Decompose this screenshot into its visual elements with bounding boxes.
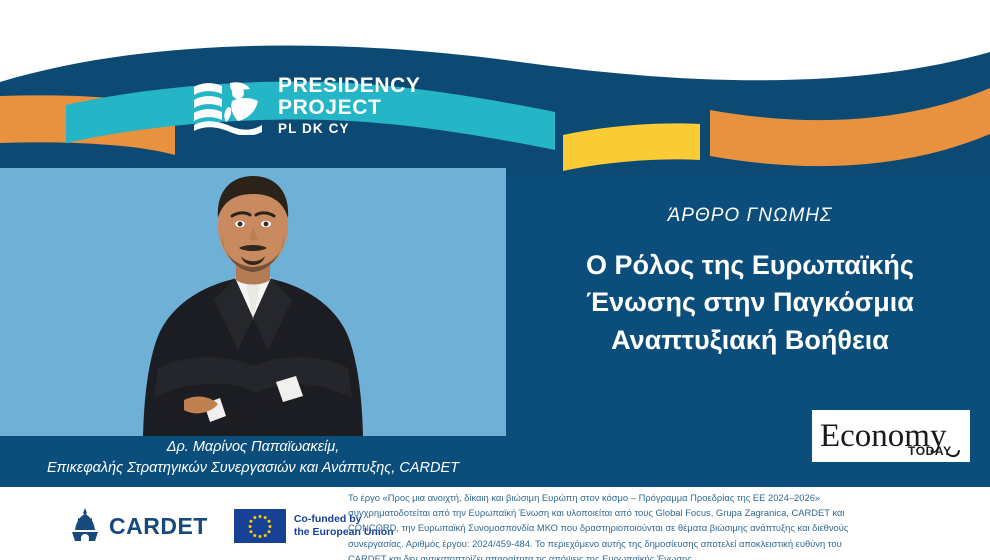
logo-line-presidency: PRESIDENCY (278, 75, 421, 97)
logo-line-countries: PL DK CY (278, 121, 421, 136)
headline-line-3: Αναπτυξιακή Βοήθεια (520, 322, 980, 359)
author-caption-line-2: Επικεφαλής Στρατηγικών Συνεργασιών και Α… (0, 458, 506, 479)
economy-today-badge: Economy TODAY (812, 410, 970, 462)
eu-flag-icon (234, 509, 286, 543)
presidency-project-logo: PRESIDENCY PROJECT PL DK CY (192, 75, 421, 136)
funding-disclaimer: Το έργο «Προς μια ανοιχτή, δίκαιη και βι… (348, 490, 982, 560)
author-caption-line-1: Δρ. Μαρίνος Παπαϊωακείμ, (0, 437, 506, 458)
cardet-windmill-icon (68, 508, 102, 544)
logo-line-project: PROJECT (278, 97, 421, 119)
disclaimer-line-1: Το έργο «Προς μια ανοιχτή, δίκαιη και βι… (348, 490, 982, 505)
author-portrait-photo (0, 168, 506, 436)
disclaimer-line-3: CONCORD, την Ευρωπαϊκή Συνομοσπονδία ΜΚΟ… (348, 520, 982, 535)
headline-line-1: Ο Ρόλος της Ευρωπαϊκής (520, 247, 980, 284)
economy-today-logo-icon: Economy TODAY (816, 413, 966, 459)
presidency-project-flag-mark (192, 77, 264, 135)
disclaimer-line-4: συνεργασίας. Αριθμός έργου: 2024/459-484… (348, 536, 982, 551)
svg-text:TODAY: TODAY (908, 444, 952, 458)
article-text-block: ΆΡΘΡΟ ΓΝΩΜΗΣ Ο Ρόλος της Ευρωπαϊκής Ένωσ… (520, 205, 980, 359)
article-kicker: ΆΡΘΡΟ ΓΝΩΜΗΣ (520, 205, 980, 227)
author-caption: Δρ. Μαρίνος Παπαϊωακείμ, Επικεφαλής Στρα… (0, 437, 506, 479)
header-wave-artwork (0, 0, 990, 175)
headline-line-2: Ένωσης στην Παγκόσμια (520, 284, 980, 321)
cardet-logo: CARDET (68, 508, 208, 544)
disclaimer-line-5: CARDET και δεν αντικατοπτρίζει απαραίτητ… (348, 551, 982, 560)
logo-wordmark: PRESIDENCY PROJECT PL DK CY (278, 75, 421, 136)
cardet-wordmark: CARDET (109, 513, 208, 540)
article-promo-card: PRESIDENCY PROJECT PL DK CY (0, 0, 990, 560)
footer-logo-group: CARDET (68, 508, 394, 544)
disclaimer-line-2: συγχρηματοδοτείται από την Ευρωπαϊκή Ένω… (348, 505, 982, 520)
article-headline: Ο Ρόλος της Ευρωπαϊκής Ένωσης στην Παγκό… (520, 247, 980, 359)
